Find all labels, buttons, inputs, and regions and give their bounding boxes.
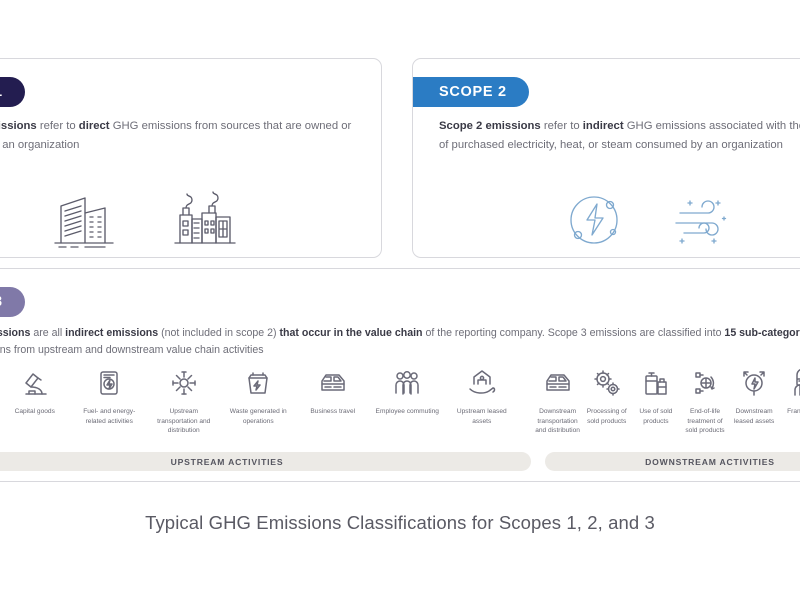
category-label: Fuel- and energy-related activities <box>74 407 145 426</box>
scope-2-badge: SCOPE 2 <box>413 77 529 107</box>
leased-assets-icon <box>467 365 497 401</box>
category-label: Downstream transportation and distributi… <box>535 407 580 436</box>
scope-1-description: Scope 1 emissions refer to direct GHG em… <box>0 117 367 154</box>
employee-commuting-icon <box>392 365 422 401</box>
downstream-transport-icon <box>543 365 573 401</box>
category-employee-commuting: Employee commuting <box>370 365 445 436</box>
category-label: Capital goods <box>15 407 55 417</box>
category-label: End-of-life treatment of sold products <box>682 407 727 436</box>
distribution-hub-icon <box>169 365 199 401</box>
scope-1-badge: SCOPE 1 <box>0 77 25 107</box>
category-label: Upstream transportation and distribution <box>149 407 220 436</box>
scope-1-card: SCOPE 1 Scope 1 emissions refer to direc… <box>0 58 382 258</box>
category-label: Downstream leased assets <box>732 407 777 426</box>
upstream-category-group: Purchased goods and services Capital goo… <box>0 365 519 436</box>
category-downstream-leased-assets: Downstream leased assets <box>730 365 779 436</box>
category-capital-goods: Capital goods <box>0 365 72 436</box>
category-waste: Waste generated in operations <box>221 365 296 436</box>
category-label: Franchises <box>787 407 800 417</box>
waste-bin-icon <box>243 365 273 401</box>
category-processing-sold-products: Processing of sold products <box>582 365 631 436</box>
fuel-energy-icon <box>94 365 124 401</box>
category-business-travel: Business travel <box>296 365 371 436</box>
upstream-activities-bar: UPSTREAM ACTIVITIES <box>0 452 531 471</box>
category-use-sold-products: Use of sold products <box>631 365 680 436</box>
scope-cards-row: SCOPE 1 Scope 1 emissions refer to direc… <box>0 58 800 258</box>
scope-1-icons <box>0 189 381 251</box>
downstream-category-group: Downstream transportation and distributi… <box>519 365 800 436</box>
category-label: Waste generated in operations <box>223 407 294 426</box>
scope-2-card: SCOPE 2 Scope 2 emissions refer to indir… <box>412 58 800 258</box>
downstream-leased-icon <box>739 365 769 401</box>
scope-3-badge: SCOPE 3 <box>0 287 25 317</box>
category-fuel-energy: Fuel- and energy-related activities <box>72 365 147 436</box>
scope-3-categories: Purchased goods and services Capital goo… <box>0 365 800 436</box>
office-buildings-icon <box>49 189 123 251</box>
gears-icon <box>592 365 622 401</box>
category-upstream-leased-assets: Upstream leased assets <box>445 365 520 436</box>
scope-2-icons <box>413 189 800 251</box>
sold-products-icon <box>641 365 671 401</box>
downstream-activities-bar: DOWNSTREAM ACTIVITIES <box>545 452 800 471</box>
category-end-of-life: End-of-life treatment of sold products <box>680 365 729 436</box>
category-label: Employee commuting <box>376 407 439 417</box>
category-label: Processing of sold products <box>584 407 629 426</box>
category-label: Upstream leased assets <box>447 407 518 426</box>
microscope-icon <box>20 365 50 401</box>
electricity-bolt-icon <box>560 189 632 251</box>
category-downstream-transport: Downstream transportation and distributi… <box>533 365 582 436</box>
scope-3-description: Scope 3 emissions are all indirect emiss… <box>0 325 800 359</box>
category-franchises: Franchises <box>779 365 800 436</box>
business-travel-icon <box>318 365 348 401</box>
category-upstream-transport: Upstream transportation and distribution <box>147 365 222 436</box>
factory-icon <box>167 189 241 251</box>
category-label: Use of sold products <box>633 407 678 426</box>
end-of-life-icon <box>690 365 720 401</box>
franchises-icon <box>788 365 800 401</box>
activity-bars: UPSTREAM ACTIVITIES DOWNSTREAM ACTIVITIE… <box>0 452 800 471</box>
scope-2-description: Scope 2 emissions refer to indirect GHG … <box>439 117 800 154</box>
infographic-page: SCOPE 1 Scope 1 emissions refer to direc… <box>0 0 800 600</box>
category-label: Business travel <box>310 407 355 417</box>
wind-icon <box>666 189 738 251</box>
figure-caption: Typical GHG Emissions Classifications fo… <box>0 512 800 534</box>
scope-3-card: SCOPE 3 Scope 3 emissions are all indire… <box>0 268 800 482</box>
